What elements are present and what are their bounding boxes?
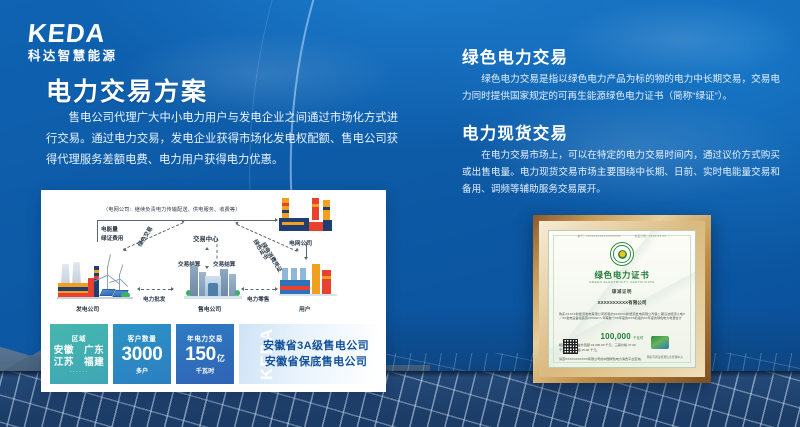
stat-customers-footer: 多户 (136, 366, 148, 375)
logo-wordmark: KEDA (27, 20, 119, 46)
fee-label-line2: 绿证费用 (101, 234, 123, 242)
settle-vertical-dash (217, 239, 218, 259)
stat-region-caption: 区域 (72, 333, 86, 343)
certificate-header-note: 编号：XXXXXXXXXXXXXXXXXX 核发日期：XXXX-XX-XX (549, 234, 695, 238)
certificate-kind: 碳减证明 (549, 289, 695, 295)
stat-customers[interactable]: 客户数量 3000 多户 (113, 324, 171, 384)
top-flow-line-riser (97, 220, 98, 242)
center-title: 交易中心 (193, 234, 219, 243)
stat-volume-unit: 亿 (217, 353, 225, 364)
brand-logo[interactable]: KEDA 科达智慧能源 (28, 20, 117, 63)
stat-customers-caption: 客户数量 (128, 333, 157, 343)
section-title-spot-trading: 电力现货交易 (462, 120, 568, 144)
wholesale-arrow-right (171, 287, 174, 291)
certificate-frame-inner: 编号：XXXXXXXXXXXXXXXXXX 核发日期：XXXX-XX-XX 绿色… (539, 221, 705, 377)
retail-line (245, 289, 275, 290)
section-body-green-trading: 绿色电力交易是指以绿色电力产品为标的物的电力中长期交易，交易电力同时提供国家规定… (462, 72, 780, 106)
wholesale-line (141, 289, 171, 290)
retailer-illustration (184, 264, 242, 300)
certificate-org-logo-icon (651, 336, 669, 349)
generator-illustration (57, 256, 133, 300)
right-column: 绿色电力交易 绿色电力交易是指以绿色电力产品为标的物的电力中长期交易，交易电力同… (440, 0, 800, 427)
stat-region[interactable]: 区域 安徽 广东 江苏 福建 ······ (50, 324, 108, 384)
stat-volume[interactable]: 年电力交易 150 亿 千瓦时 (176, 324, 234, 384)
certificate-paper: 编号：XXXXXXXXXXXXXXXXXX 核发日期：XXXX-XX-XX 绿色… (548, 230, 696, 368)
retail-label: 电力零售 (247, 295, 269, 303)
wholesale-arrow-left (137, 287, 140, 291)
stat-customers-value: 3000 (121, 345, 162, 364)
certificate-frame: 编号：XXXXXXXXXXXXXXXXXX 核发日期：XXXX-XX-XX 绿色… (533, 215, 711, 383)
badge-line-2: 安徽省保底售电公司 (263, 354, 369, 371)
settle-arrow-up (205, 247, 209, 250)
stat-region-row2: 江苏 福建 (54, 357, 104, 369)
green-trade-line (123, 222, 184, 250)
wholesale-label: 电力批发 (143, 295, 165, 303)
logo-subtitle: 科达智慧能源 (28, 50, 117, 63)
content-card: （电网公司：继续负责电力传输配送、供电服务、收费等） 电能量 绿证费用 交易中心… (41, 190, 386, 392)
badge-line-1: 安徽省3A级售电公司 (263, 338, 369, 355)
page-title: 电力交易方案 (46, 72, 208, 108)
certificate-paragraph: 购买XXXXX新能源发电有限公司所属的XXXXXX新能源发电有限公司第二期清洁能… (559, 312, 685, 321)
section-body-spot-trading: 在电力交易市场上，可以在特定的电力交易时间内，通过议价方式购买或出售电量。电力现… (462, 148, 780, 198)
green-certificate[interactable]: 编号：XXXXXXXXXXXXXXXXXX 核发日期：XXXX-XX-XX 绿色… (533, 215, 711, 383)
left-column: KEDA 科达智慧能源 电力交易方案 售电公司代理广大中小电力用户与发电企业之间… (0, 0, 430, 427)
section-title-green-trading: 绿色电力交易 (462, 44, 568, 68)
trading-flow-diagram: （电网公司：继续负责电力传输配送、供电服务、收费等） 电能量 绿证费用 交易中心… (41, 194, 386, 322)
node-label-user: 用户 (299, 304, 311, 313)
grid-to-user-arrow (304, 257, 308, 260)
stat-region-dots: ······ (69, 369, 88, 375)
node-label-retailer: 售电公司 (198, 304, 221, 313)
fee-label-line1: 电能量 (101, 225, 118, 233)
user-illustration (279, 262, 339, 300)
certificate-amount-value: 100,000 (601, 332, 631, 341)
stat-volume-caption: 年电力交易 (187, 333, 223, 343)
diagram-top-note: （电网公司：继续负责电力传输配送、供电服务、收费等） (103, 206, 240, 213)
green-cert-arrow-down (295, 248, 299, 253)
stats-bar: 区域 安徽 广东 江苏 福建 ······ 客户数量 3000 多户 年电力交易… (50, 324, 377, 384)
stat-qualification-badge[interactable]: KEDA 安徽省3A级售电公司 安徽省保底售电公司 (239, 324, 377, 384)
certificate-amount-unit: 千瓦时 (633, 336, 643, 340)
certificate-subtitle: GREEN ELECTRICITY CERTIFICATE (549, 280, 695, 284)
certificate-company: XXXXXXXXXX有限公司 (549, 300, 695, 306)
top-flow-line (97, 220, 275, 221)
certificate-issuer: 国家可再生能源信息管理中心 (647, 355, 683, 359)
seal-core (618, 250, 627, 259)
node-label-grid: 电网公司 (289, 238, 312, 247)
retail-arrow-right (275, 287, 278, 291)
stat-region-row1: 安徽 广东 (54, 345, 104, 357)
top-flow-arrow (275, 218, 278, 222)
grid-company-illustration (279, 198, 335, 236)
certificate-seal-icon (610, 242, 634, 266)
qr-code-icon (563, 339, 578, 354)
page-description: 售电公司代理广大中小电力用户与发电企业之间通过市场化方式进行交易。通过电力交易，… (46, 108, 398, 171)
stat-volume-value: 150 (185, 345, 216, 364)
stat-volume-footer: 千瓦时 (196, 366, 215, 375)
node-label-generator: 发电公司 (76, 304, 99, 313)
